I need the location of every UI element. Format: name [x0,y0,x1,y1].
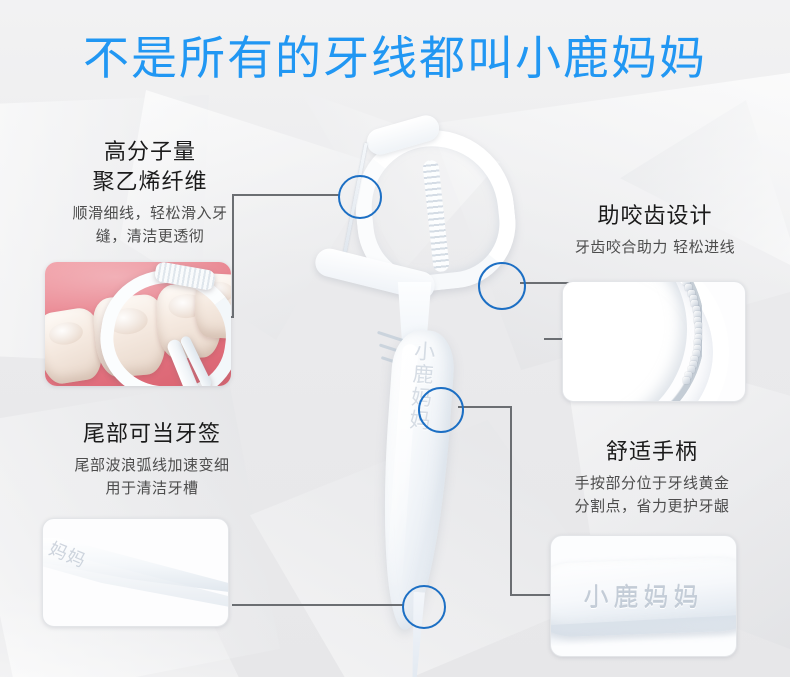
feature-description-line2: 用于清洁牙槽 [12,477,292,500]
serration-tooth [683,377,690,384]
connector-line-bottom-left [232,604,404,606]
feature-description: 顺滑细线，轻松滑入牙 缝，清洁更透彻 [10,202,290,248]
feature-description-line1: 尾部波浪弧线加速变细 [12,454,292,477]
connector-line-bottom-right [510,406,512,596]
feature-heading-line1: 助咬齿设计 [520,202,790,232]
feature-description: 尾部波浪弧线加速变细 用于清洁牙槽 [12,454,292,500]
feature-heading-line1: 尾部可当牙签 [12,420,292,450]
feature-heading-line2: 聚乙烯纤维 [10,168,290,198]
feature-description-line1: 手按部分位于牙线黄金 [516,472,788,495]
feature-description: 牙齿咬合助力 轻松进线 [520,236,790,259]
feature-block-bottom-left: 尾部可当牙签 尾部波浪弧线加速变细 用于清洁牙槽 [12,420,292,500]
tooth-cusp [47,320,84,347]
callout-marker-floss [338,175,382,219]
feature-block-top-right: 助咬齿设计 牙齿咬合助力 轻松进线 [520,202,790,259]
page-title: 不是所有的牙线都叫小鹿妈妈 [0,22,790,88]
photo-teeth-flossing [45,262,231,386]
callout-marker-tail [402,585,446,629]
photo-tapered-tail: 妈妈 [42,518,229,627]
feature-block-bottom-right: 舒适手柄 手按部分位于牙线黄金 分割点，省力更护牙龈 [516,438,788,518]
callout-marker-handle [418,387,464,433]
feature-description-line1: 牙齿咬合助力 轻松进线 [520,236,790,259]
serration-edge-ring [562,281,705,402]
feature-block-top-left: 高分子量 聚乙烯纤维 顺滑细线，轻松滑入牙 缝，清洁更透彻 [10,138,290,248]
connector-line-bottom-right [458,406,512,408]
callout-marker-serrated-edge [478,262,526,310]
infographic-canvas: 不是所有的牙线都叫小鹿妈妈 小鹿妈妈 高分子量 聚乙烯纤维 顺滑细线，轻松滑入牙 [0,0,790,677]
feature-description-line2: 分割点，省力更护牙龈 [516,495,788,518]
feature-heading-line1: 高分子量 [10,138,290,168]
photo-serrated-edge [562,281,746,402]
feature-description-line1: 顺滑细线，轻松滑入牙 [10,202,290,225]
feature-heading-line1: 舒适手柄 [516,438,788,468]
feature-description: 手按部分位于牙线黄金 分割点，省力更护牙龈 [516,472,788,518]
handle-brand-text: 小鹿妈妈 [551,578,736,614]
feature-description-line2: 缝，清洁更透彻 [10,225,290,248]
photo-handle-branding: 小鹿妈妈 [550,535,737,657]
connector-line-bottom-right [510,594,552,596]
